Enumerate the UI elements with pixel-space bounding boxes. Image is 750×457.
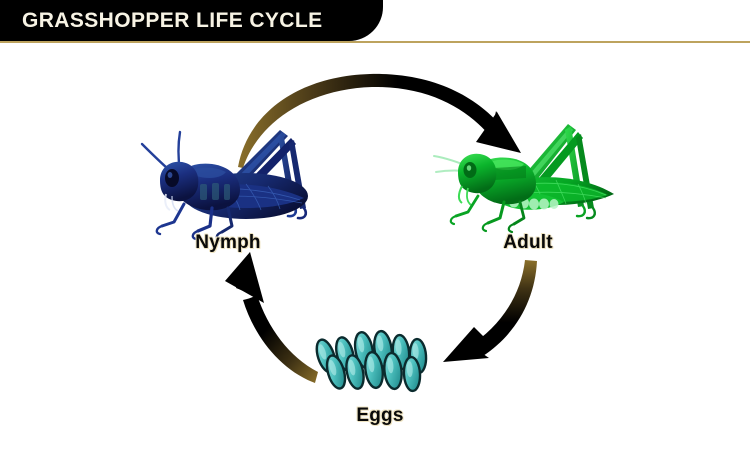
stage-eggs: Eggs [300, 330, 460, 440]
title-banner: GRASSHOPPER LIFE CYCLE [0, 0, 383, 41]
egg-group [313, 330, 427, 391]
grasshopper-nymph-illustration [128, 110, 328, 235]
stage-nymph: Nymph [128, 110, 328, 260]
grasshopper-adult-illustration [428, 110, 628, 235]
egg-cluster-illustration [300, 330, 460, 400]
stage-label-eggs: Eggs [300, 405, 460, 427]
page-title: GRASSHOPPER LIFE CYCLE [22, 10, 323, 31]
stage-label-nymph: Nymph [128, 232, 328, 254]
title-divider-rule [0, 41, 750, 43]
life-cycle-infographic: GRASSHOPPER LIFE CYCLE [0, 0, 750, 457]
stage-label-adult: Adult [428, 232, 628, 254]
stage-adult: Adult [428, 110, 628, 260]
